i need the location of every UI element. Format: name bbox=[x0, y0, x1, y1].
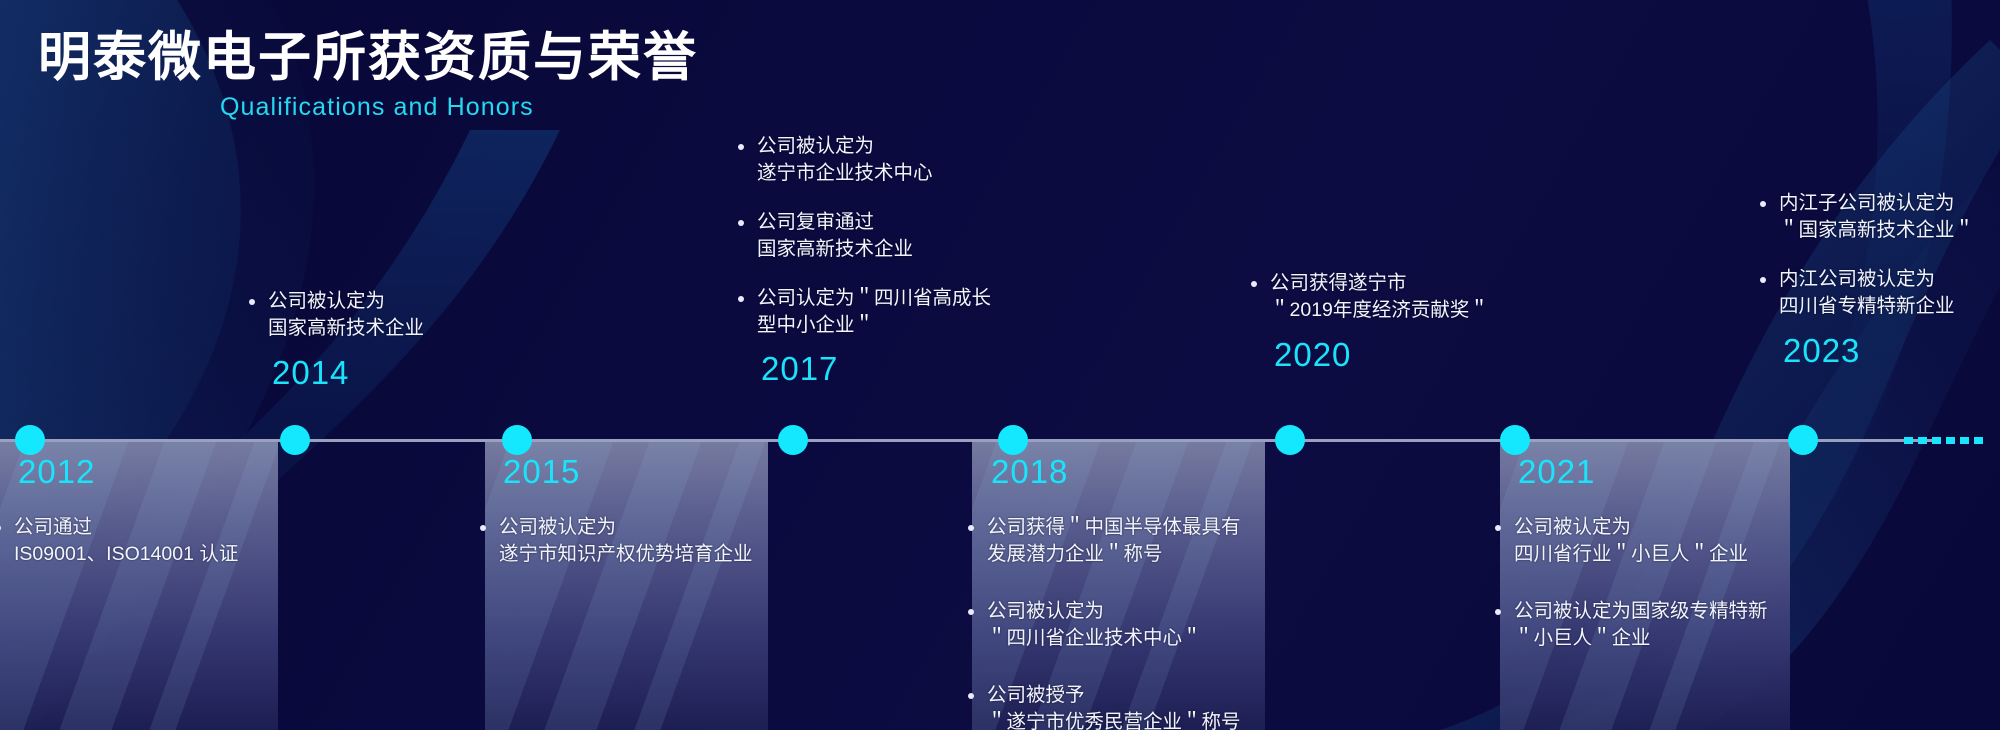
milestone-2018: 2018公司获得＂中国半导体最具有 发展潜力企业＂称号公司被认定为 ＂四川省企业… bbox=[965, 455, 1265, 730]
timeline-dot-2018[interactable] bbox=[998, 425, 1028, 455]
milestone-item: 公司被认定为 ＂四川省企业技术中心＂ bbox=[965, 598, 1265, 652]
milestone-2021: 2021公司被认定为 四川省行业＂小巨人＂企业公司被认定为国家级专精特新 ＂小巨… bbox=[1492, 455, 1792, 682]
milestone-items: 公司获得遂宁市 ＂2019年度经济贡献奖＂ bbox=[1248, 270, 1548, 324]
milestone-item: 公司认定为＂四川省高成长 型中小企业＂ bbox=[735, 285, 1035, 339]
milestone-item: 公司被授予 ＂遂宁市优秀民营企业＂称号 bbox=[965, 682, 1265, 730]
axis-dash-segment bbox=[1904, 437, 1913, 444]
timeline-dot-2015[interactable] bbox=[502, 425, 532, 455]
milestone-item: 公司被认定为 遂宁市企业技术中心 bbox=[735, 133, 1035, 187]
milestone-year-label: 2023 bbox=[1783, 334, 2000, 367]
milestone-items: 公司被认定为 遂宁市知识产权优势培育企业 bbox=[477, 514, 777, 568]
header: 明泰微电子所获资质与荣誉 Qualifications and Honors bbox=[38, 28, 698, 122]
milestone-items: 内江子公司被认定为 ＂国家高新技术企业＂内江公司被认定为 四川省专精特新企业 bbox=[1757, 190, 2000, 320]
slide-canvas: 明泰微电子所获资质与荣誉 Qualifications and Honors 2… bbox=[0, 0, 2000, 730]
milestone-item: 公司获得＂中国半导体最具有 发展潜力企业＂称号 bbox=[965, 514, 1265, 568]
milestone-2020: 公司获得遂宁市 ＂2019年度经济贡献奖＂2020 bbox=[1248, 270, 1548, 371]
milestone-item: 公司通过 IS09001、ISO14001 认证 bbox=[0, 514, 292, 568]
milestone-year-label: 2014 bbox=[272, 356, 546, 389]
milestone-item: 内江子公司被认定为 ＂国家高新技术企业＂ bbox=[1757, 190, 2000, 244]
milestone-2014: 公司被认定为 国家高新技术企业2014 bbox=[246, 288, 546, 389]
page-title: 明泰微电子所获资质与荣誉 bbox=[38, 28, 698, 87]
milestone-item: 公司被认定为 四川省行业＂小巨人＂企业 bbox=[1492, 514, 1792, 568]
milestone-year-label: 2017 bbox=[761, 352, 1035, 385]
milestone-items: 公司被认定为 四川省行业＂小巨人＂企业公司被认定为国家级专精特新 ＂小巨人＂企业 bbox=[1492, 514, 1792, 652]
milestone-2015: 2015公司被认定为 遂宁市知识产权优势培育企业 bbox=[477, 455, 777, 598]
milestone-year-label: 2015 bbox=[503, 455, 777, 488]
milestone-items: 公司获得＂中国半导体最具有 发展潜力企业＂称号公司被认定为 ＂四川省企业技术中心… bbox=[965, 514, 1265, 730]
milestone-item: 公司被认定为 国家高新技术企业 bbox=[246, 288, 546, 342]
milestone-item: 公司被认定为 遂宁市知识产权优势培育企业 bbox=[477, 514, 777, 568]
axis-dash-segment bbox=[1932, 437, 1941, 444]
timeline-dot-2021[interactable] bbox=[1500, 425, 1530, 455]
axis-dash-segment bbox=[1974, 437, 1983, 444]
timeline-dot-2017[interactable] bbox=[778, 425, 808, 455]
milestone-2023: 内江子公司被认定为 ＂国家高新技术企业＂内江公司被认定为 四川省专精特新企业20… bbox=[1757, 190, 2000, 367]
timeline-axis-dashes bbox=[1904, 437, 2000, 444]
milestone-year-label: 2012 bbox=[18, 455, 292, 488]
timeline-dot-2023[interactable] bbox=[1788, 425, 1818, 455]
milestone-year-label: 2020 bbox=[1274, 338, 1548, 371]
milestone-year-label: 2021 bbox=[1518, 455, 1792, 488]
timeline-dot-2020[interactable] bbox=[1275, 425, 1305, 455]
timeline-dot-2014[interactable] bbox=[280, 425, 310, 455]
milestone-item: 公司被认定为国家级专精特新 ＂小巨人＂企业 bbox=[1492, 598, 1792, 652]
milestone-year-label: 2018 bbox=[991, 455, 1265, 488]
milestone-item: 公司获得遂宁市 ＂2019年度经济贡献奖＂ bbox=[1248, 270, 1548, 324]
milestone-items: 公司被认定为 遂宁市企业技术中心公司复审通过 国家高新技术企业公司认定为＂四川省… bbox=[735, 133, 1035, 338]
page-subtitle: Qualifications and Honors bbox=[220, 93, 698, 122]
milestone-2012: 2012公司通过 IS09001、ISO14001 认证 bbox=[0, 455, 292, 598]
axis-dash-segment bbox=[1946, 437, 1955, 444]
timeline-dot-2012[interactable] bbox=[15, 425, 45, 455]
milestone-items: 公司通过 IS09001、ISO14001 认证 bbox=[0, 514, 292, 568]
milestone-item: 内江公司被认定为 四川省专精特新企业 bbox=[1757, 266, 2000, 320]
milestone-items: 公司被认定为 国家高新技术企业 bbox=[246, 288, 546, 342]
axis-dash-segment bbox=[1918, 437, 1927, 444]
milestone-2017: 公司被认定为 遂宁市企业技术中心公司复审通过 国家高新技术企业公司认定为＂四川省… bbox=[735, 133, 1035, 385]
milestone-item: 公司复审通过 国家高新技术企业 bbox=[735, 209, 1035, 263]
axis-dash-segment bbox=[1960, 437, 1969, 444]
